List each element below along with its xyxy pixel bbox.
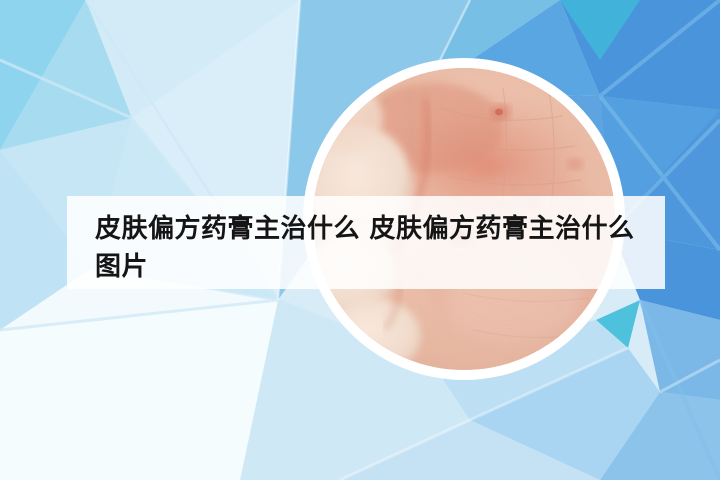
thumbnail-card: 皮肤偏方药膏主治什么 皮肤偏方药膏主治什么图片 [0,0,720,480]
caption-band: 皮肤偏方药膏主治什么 皮肤偏方药膏主治什么图片 [67,196,665,289]
page-title: 皮肤偏方药膏主治什么 皮肤偏方药膏主治什么图片 [95,210,637,286]
